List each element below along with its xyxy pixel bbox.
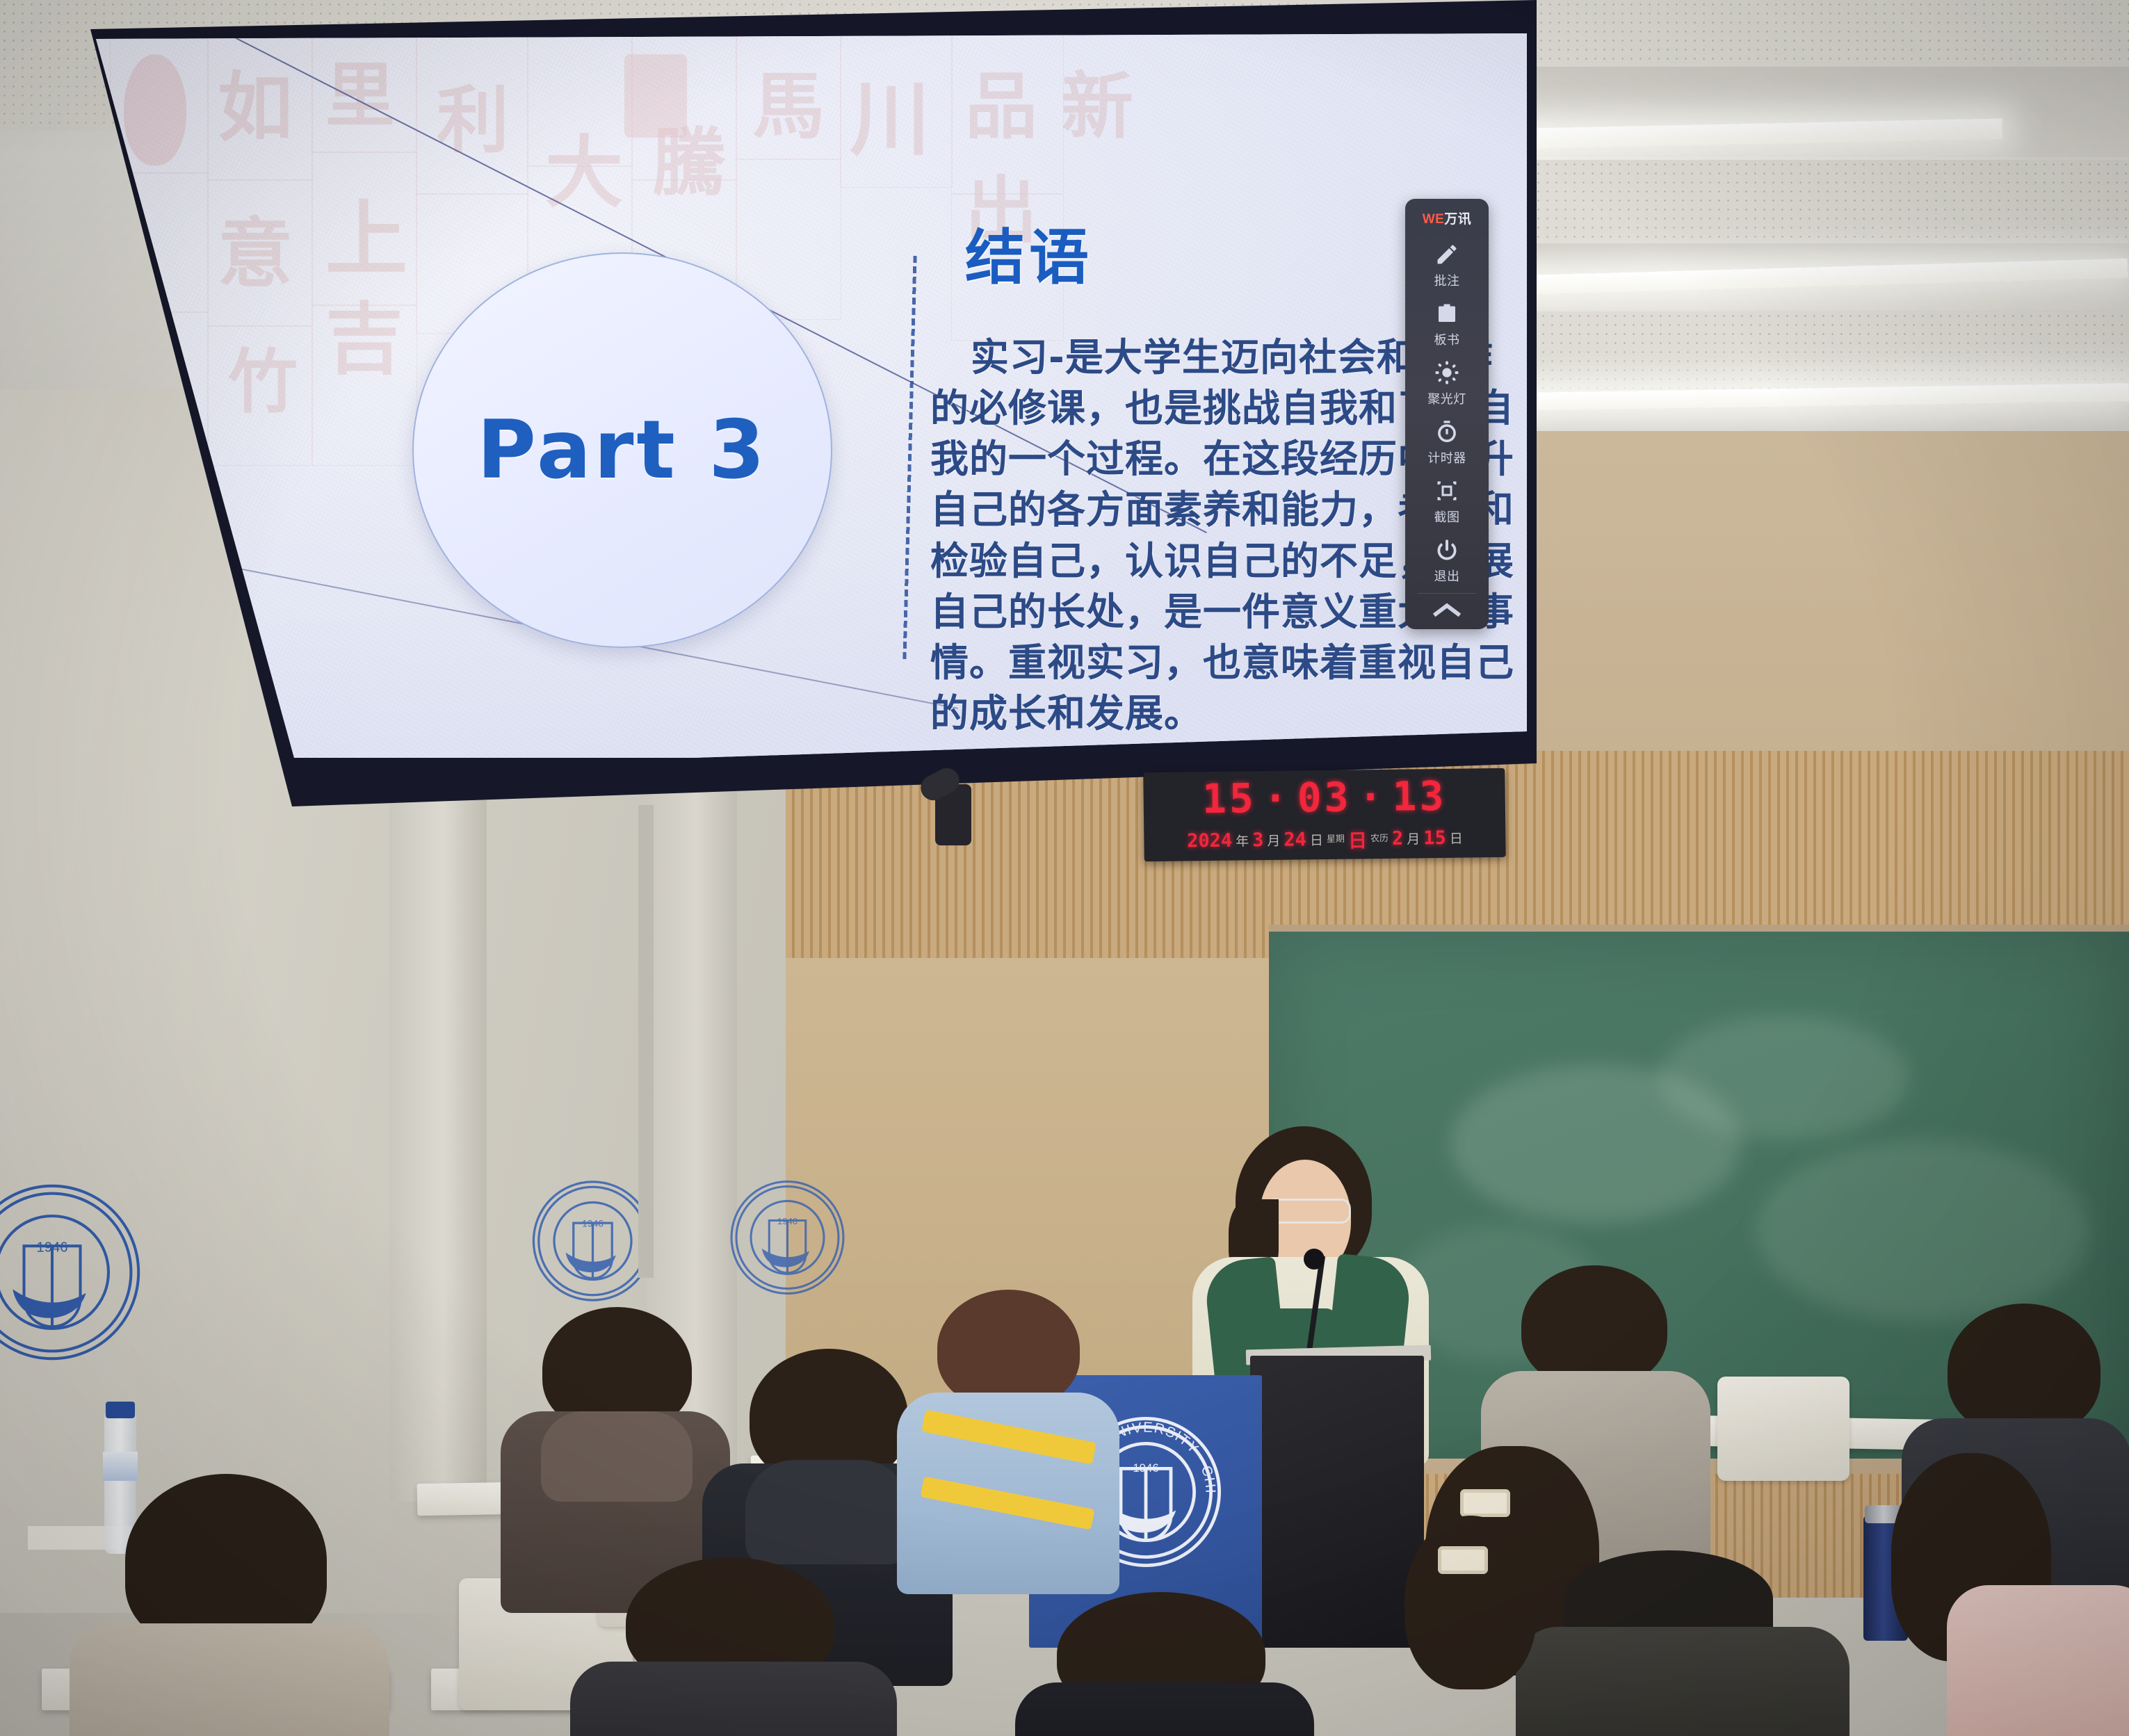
toolbar-item-whiteboard[interactable]: 板书 (1405, 300, 1489, 348)
clock-lunar-month-unit: 月 (1407, 829, 1420, 847)
led-clock-time: 15 · 03 · 13 (1143, 772, 1505, 822)
svg-text:1946: 1946 (1133, 1461, 1158, 1475)
toolbar-brand-suffix: 万讯 (1444, 212, 1471, 227)
slide-title: 结语 (965, 209, 1093, 295)
clock-sep-1: · (1263, 774, 1290, 822)
student-8-furhood (1516, 1550, 1849, 1736)
presentation-toolbar[interactable]: WE万讯 批注 板书 (1405, 199, 1489, 629)
student-6-pink (1905, 1453, 2128, 1736)
toolbar-item-exit-label: 退出 (1434, 567, 1460, 585)
clock-month-unit: 月 (1267, 830, 1280, 849)
toolbar-item-screenshot-label: 截图 (1434, 508, 1460, 526)
clock-year: 2024 (1187, 829, 1232, 852)
slide-section-badge: Part 3 (412, 252, 832, 648)
student-11-front-right (1015, 1592, 1314, 1736)
toolbar-item-timer-label: 计时器 (1427, 448, 1466, 467)
svg-text:1946: 1946 (777, 1216, 798, 1226)
student-3-denim (897, 1290, 1119, 1582)
toolbar-item-spotlight[interactable]: 聚光灯 (1405, 359, 1489, 407)
toolbar-item-spotlight-label: 聚光灯 (1427, 389, 1466, 407)
clock-hours: 15 (1202, 774, 1257, 822)
projection-screen: 如 意 年 年 竹 上 吉 里 大 騰 馬 川 品 出 利 新 (83, 0, 1537, 806)
classroom-photo: 1946 1946 1946 (0, 0, 2129, 1736)
screenshot-icon (1431, 477, 1463, 505)
toolbar-divider (1418, 593, 1476, 594)
wall-logo-jilin-1: 1946 (0, 1147, 146, 1397)
svg-text:1946: 1946 (36, 1240, 67, 1255)
student-9-front-left (70, 1474, 389, 1736)
clock-seconds: 13 (1392, 772, 1447, 820)
led-clock-date: 2024 年 3 月 24 日 星期 日 农历 2 月 15 日 (1144, 821, 1506, 857)
toolbar-item-exit[interactable]: 退出 (1405, 536, 1489, 585)
wall-logo-jilin-3: 1946 (727, 1154, 848, 1321)
student-2-hood (745, 1460, 909, 1564)
led-clock: 15 · 03 · 13 2024 年 3 月 24 日 星期 日 农历 2 月… (1143, 768, 1506, 861)
hair-clip-2 (1438, 1546, 1488, 1574)
clock-lunar-day: 15 (1423, 827, 1446, 848)
pencil-icon (1431, 241, 1463, 268)
clock-month: 3 (1252, 829, 1264, 851)
chair-3 (1717, 1377, 1849, 1481)
whiteboard-icon (1431, 300, 1463, 327)
clock-year-unit: 年 (1236, 831, 1249, 850)
toolbar-item-whiteboard-label: 板书 (1434, 330, 1460, 348)
clock-lunar-day-unit: 日 (1450, 828, 1463, 847)
presenter-microphone-head (1304, 1249, 1325, 1269)
clock-lunar-month: 2 (1392, 827, 1404, 849)
svg-text:1946: 1946 (582, 1218, 604, 1229)
toolbar-item-timer[interactable]: 计时器 (1405, 418, 1489, 467)
clock-weekday-label: 星期 (1327, 834, 1345, 843)
clock-day: 24 (1284, 829, 1306, 850)
clock-day-unit: 日 (1310, 830, 1323, 849)
security-camera (935, 784, 971, 845)
water-bottle-cap (106, 1402, 135, 1418)
timer-icon (1431, 418, 1463, 446)
student-1 (501, 1307, 730, 1599)
clock-lunar-label: 农历 (1370, 834, 1389, 843)
student-10-front-center (570, 1557, 897, 1736)
student-1-hood (541, 1411, 693, 1502)
clock-minutes: 03 (1297, 774, 1352, 822)
hair-clip-1 (1460, 1489, 1510, 1517)
slide-canvas: 如 意 年 年 竹 上 吉 里 大 騰 馬 川 品 出 利 新 (96, 33, 1527, 758)
toolbar-brand-mark: WE (1423, 212, 1445, 227)
clock-sep-2: · (1358, 773, 1386, 820)
student-12-bun (1391, 1516, 1551, 1736)
slide-section-badge-label: Part 3 (477, 403, 768, 497)
toolbar-item-screenshot[interactable]: 截图 (1405, 477, 1489, 526)
power-icon (1431, 536, 1463, 564)
toolbar-brand-logo: WE万讯 (1423, 209, 1472, 227)
wall-trim (638, 805, 654, 1278)
screen-surface: 如 意 年 年 竹 上 吉 里 大 騰 馬 川 品 出 利 新 (96, 33, 1527, 758)
spotlight-icon (1431, 359, 1463, 387)
chevron-up-icon[interactable] (1431, 602, 1463, 622)
clock-weekday: 日 (1348, 825, 1367, 852)
toolbar-item-annotate-label: 批注 (1434, 271, 1460, 289)
toolbar-item-annotate[interactable]: 批注 (1405, 241, 1489, 289)
